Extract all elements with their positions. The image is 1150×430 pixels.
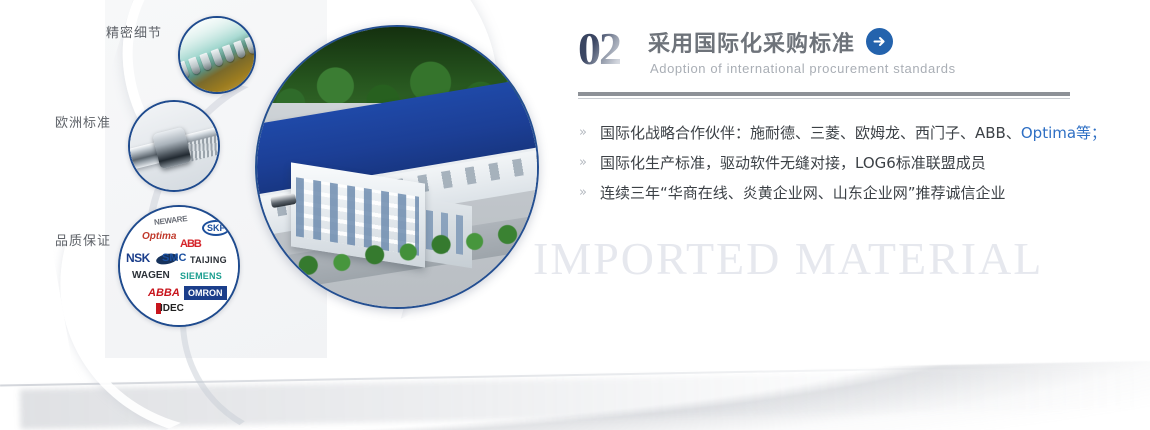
section-subtitle: Adoption of international procurement st… [650, 61, 956, 76]
promo-banner: 精密细节 欧洲标准 品质保证 NE [0, 0, 1150, 430]
watermark-text: IMPORTED MATERIAL [533, 232, 1123, 294]
logo-smc: SMC [162, 252, 186, 264]
list-item-text: 国际化生产标准，驱动软件无缝对接，LOG6标准联盟成员 [600, 154, 986, 172]
feature-list: » 国际化战略合作伙伴：施耐德、三菱、欧姆龙、西门子、ABB、Optima等； … [578, 118, 1098, 208]
list-item: » 国际化生产标准，驱动软件无缝对接，LOG6标准联盟成员 [578, 148, 1098, 178]
section-number: 02 [578, 22, 620, 75]
logo-taijing: TAIJING [190, 255, 227, 265]
caption-quality-assurance: 品质保证 [55, 230, 111, 249]
logo-abb: ABB [180, 238, 201, 250]
chevron-bullet-icon: » [579, 118, 587, 148]
list-item-highlight: Optima等； [1021, 124, 1106, 142]
supplier-logos-collage-image: NEWARE SKF Optima ABB NSK SMC TAIJING WA… [118, 205, 240, 327]
list-item-text: 国际化战略合作伙伴：施耐德、三菱、欧姆龙、西门子、ABB、 [600, 124, 1021, 142]
header-divider [578, 92, 1070, 97]
logo-nsk: NSK [126, 251, 150, 265]
page-title: 采用国际化采购标准 [648, 26, 855, 58]
gear-teeth-closeup-image [178, 16, 256, 94]
arrow-right-circle-icon[interactable] [866, 28, 893, 55]
logo-abba: ABBA [148, 287, 180, 299]
logo-skf: SKF [202, 220, 230, 236]
caption-precision-detail: 精密细节 [106, 22, 162, 41]
logo-wagen: WAGEN [132, 270, 170, 281]
ball-screw-component-image [128, 100, 220, 192]
logo-siemens: SIEMENS [180, 271, 222, 281]
chevron-bullet-icon: » [579, 148, 587, 178]
section-header: 02 采用国际化采购标准 Adoption of international p… [578, 24, 1098, 86]
list-item-text: 连续三年“华商在线、炎黄企业网、山东企业网”推荐诚信企业 [600, 184, 1006, 202]
logo-omron: OMRON [184, 286, 227, 300]
list-item: » 连续三年“华商在线、炎黄企业网、山东企业网”推荐诚信企业 [578, 178, 1098, 208]
logo-idec: IDEC [160, 303, 184, 314]
logo-optima: Optima [142, 231, 176, 242]
chevron-bullet-icon: » [579, 178, 587, 208]
right-content: 02 采用国际化采购标准 Adoption of international p… [578, 0, 1118, 430]
list-item: » 国际化战略合作伙伴：施耐德、三菱、欧姆龙、西门子、ABB、Optima等； [578, 118, 1098, 148]
caption-european-standard: 欧洲标准 [55, 112, 111, 131]
left-image-group: 精密细节 欧洲标准 品质保证 NE [0, 0, 560, 380]
factory-aerial-view-image [255, 25, 539, 309]
header-divider-thin [578, 98, 1070, 99]
